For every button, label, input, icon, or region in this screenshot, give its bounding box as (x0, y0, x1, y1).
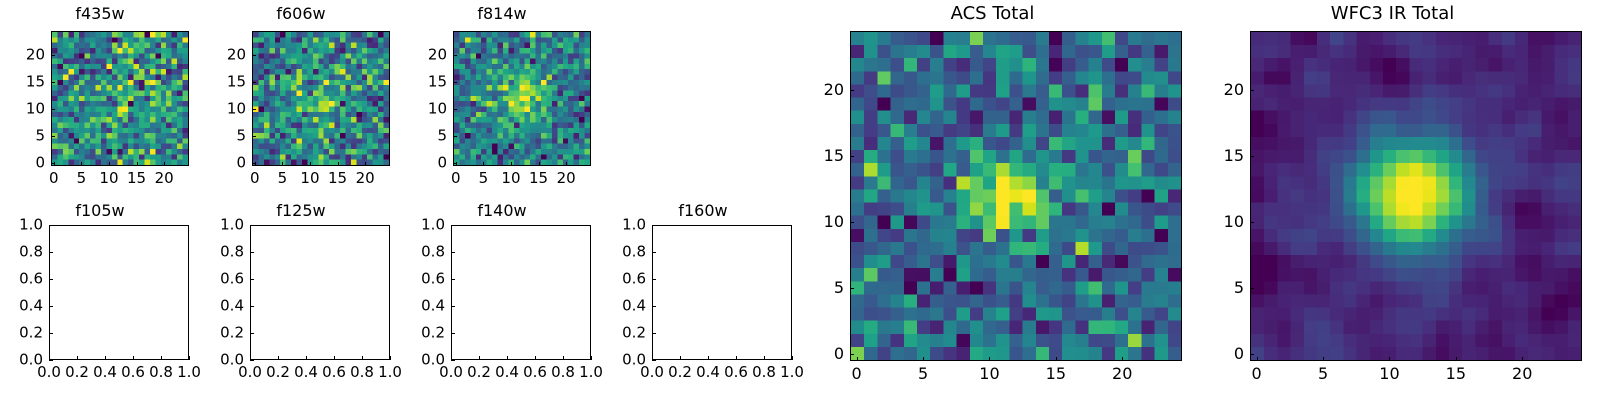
y-tick-mark (252, 82, 256, 83)
panel-f435w: f435w 0510152005101520 (0, 0, 200, 195)
x-tick-mark (338, 162, 339, 166)
y-tick-label: 1.0 (201, 218, 244, 233)
heatmap-canvas-f606w (253, 32, 389, 165)
y-tick-mark (850, 222, 854, 223)
y-tick-label: 0.4 (201, 299, 244, 314)
y-tick-mark (250, 252, 254, 253)
y-tick-mark (850, 156, 854, 157)
y-tick-label: 15 (201, 75, 246, 90)
x-tick-mark (1323, 357, 1324, 361)
plot-area-f140w[interactable] (451, 225, 591, 360)
x-tick-mark (736, 356, 737, 360)
x-tick-mark (857, 357, 858, 361)
x-tick-mark (365, 162, 366, 166)
y-tick-label: 5 (800, 280, 844, 296)
y-tick-mark (453, 82, 457, 83)
x-tick-mark (1257, 357, 1258, 361)
panel-f160w: f160w 0.00.20.40.60.81.00.00.20.40.60.81… (603, 195, 803, 400)
x-tick-mark (1122, 357, 1123, 361)
y-tick-mark (451, 279, 455, 280)
x-tick-label: 20 (356, 171, 375, 186)
y-tick-mark (451, 333, 455, 334)
y-tick-mark (1250, 288, 1254, 289)
y-tick-mark (453, 109, 457, 110)
y-tick-mark (652, 360, 656, 361)
panel-title-acs-total: ACS Total (800, 5, 1185, 23)
x-tick-mark (591, 356, 592, 360)
x-tick-label: 0 (250, 171, 260, 186)
x-tick-mark (306, 356, 307, 360)
panel-f606w: f606w 0510152005101520 (201, 0, 401, 195)
y-tick-label: 0 (201, 156, 246, 171)
x-tick-mark (507, 356, 508, 360)
x-tick-label: 15 (1446, 366, 1466, 382)
x-tick-label: 0.8 (350, 365, 374, 380)
x-tick-mark (483, 162, 484, 166)
x-tick-mark (511, 162, 512, 166)
y-tick-mark (49, 360, 53, 361)
y-tick-mark (451, 252, 455, 253)
y-tick-mark (850, 288, 854, 289)
x-tick-label: 0.6 (322, 365, 346, 380)
x-tick-label: 0 (852, 366, 862, 382)
y-tick-label: 1.0 (402, 218, 445, 233)
heatmap-wfc3-ir-total[interactable] (1250, 31, 1582, 361)
y-tick-mark (252, 55, 256, 56)
x-tick-label: 20 (1512, 366, 1532, 382)
y-tick-label: 20 (201, 48, 246, 63)
y-tick-mark (252, 109, 256, 110)
y-tick-mark (49, 333, 53, 334)
y-tick-label: 20 (800, 82, 844, 98)
y-tick-label: 0 (402, 156, 447, 171)
y-tick-label: 0.0 (402, 353, 445, 368)
x-tick-mark (1456, 357, 1457, 361)
panel-f125w: f125w 0.00.20.40.60.81.00.00.20.40.60.81… (201, 195, 401, 400)
y-tick-mark (250, 360, 254, 361)
y-tick-label: 0.0 (603, 353, 646, 368)
y-tick-mark (250, 333, 254, 334)
y-tick-mark (252, 136, 256, 137)
x-tick-mark (278, 356, 279, 360)
y-tick-label: 0.8 (201, 245, 244, 260)
x-tick-mark (390, 356, 391, 360)
x-tick-mark (189, 356, 190, 360)
panel-title-f435w: f435w (0, 6, 200, 22)
panel-wfc3-ir-total: WFC3 IR Total 0510152005101520 (1200, 0, 1600, 400)
y-tick-mark (1250, 222, 1254, 223)
y-tick-label: 10 (201, 102, 246, 117)
x-tick-label: 0.4 (93, 365, 117, 380)
y-tick-mark (49, 279, 53, 280)
y-tick-mark (652, 279, 656, 280)
y-tick-label: 5 (402, 129, 447, 144)
x-tick-label: 15 (328, 171, 347, 186)
x-tick-mark (539, 162, 540, 166)
y-tick-mark (850, 354, 854, 355)
y-tick-mark (51, 136, 55, 137)
heatmap-acs-total[interactable] (850, 31, 1182, 361)
y-tick-mark (51, 55, 55, 56)
x-tick-label: 5 (278, 171, 288, 186)
x-tick-mark (1056, 357, 1057, 361)
x-tick-label: 10 (99, 171, 118, 186)
x-tick-label: 0.4 (495, 365, 519, 380)
y-tick-label: 20 (402, 48, 447, 63)
y-tick-label: 0.6 (201, 272, 244, 287)
y-tick-label: 20 (1200, 82, 1244, 98)
x-tick-label: 0 (451, 171, 461, 186)
y-tick-mark (652, 333, 656, 334)
x-tick-mark (989, 357, 990, 361)
y-tick-label: 0.2 (603, 326, 646, 341)
x-tick-label: 0.6 (121, 365, 145, 380)
y-tick-label: 15 (402, 75, 447, 90)
y-tick-label: 10 (0, 102, 45, 117)
y-tick-label: 0 (800, 346, 844, 362)
x-tick-mark (764, 356, 765, 360)
heatmap-f606w[interactable] (252, 31, 390, 166)
y-tick-label: 0.2 (402, 326, 445, 341)
x-tick-mark (105, 356, 106, 360)
x-tick-label: 5 (479, 171, 489, 186)
y-tick-label: 0.8 (603, 245, 646, 260)
y-tick-label: 15 (0, 75, 45, 90)
x-tick-mark (161, 356, 162, 360)
y-tick-label: 0 (1200, 346, 1244, 362)
x-tick-label: 0.2 (266, 365, 290, 380)
heatmap-canvas-acs-total (851, 32, 1181, 360)
y-tick-mark (51, 109, 55, 110)
x-tick-label: 0.2 (668, 365, 692, 380)
y-tick-label: 0.4 (603, 299, 646, 314)
x-tick-mark (77, 356, 78, 360)
x-tick-label: 0.2 (65, 365, 89, 380)
y-tick-mark (49, 252, 53, 253)
y-tick-label: 5 (201, 129, 246, 144)
x-tick-label: 0 (1252, 366, 1262, 382)
y-tick-label: 0.8 (0, 245, 43, 260)
x-tick-mark (1522, 357, 1523, 361)
x-tick-mark (479, 356, 480, 360)
x-tick-label: 15 (127, 171, 146, 186)
y-tick-label: 0.2 (201, 326, 244, 341)
x-tick-label: 0.4 (696, 365, 720, 380)
x-tick-label: 10 (979, 366, 999, 382)
y-tick-label: 0.6 (603, 272, 646, 287)
y-tick-mark (652, 252, 656, 253)
x-tick-label: 5 (77, 171, 87, 186)
x-tick-mark (109, 162, 110, 166)
x-tick-label: 15 (1046, 366, 1066, 382)
y-tick-label: 0.6 (402, 272, 445, 287)
y-tick-label: 0.8 (402, 245, 445, 260)
y-tick-mark (1250, 354, 1254, 355)
heatmap-canvas-wfc3-ir-total (1251, 32, 1581, 360)
x-tick-label: 10 (300, 171, 319, 186)
y-tick-label: 15 (1200, 148, 1244, 164)
y-tick-label: 5 (1200, 280, 1244, 296)
plot-area-f125w[interactable] (250, 225, 390, 360)
x-tick-label: 0.2 (467, 365, 491, 380)
y-tick-mark (451, 306, 455, 307)
y-tick-mark (453, 55, 457, 56)
x-tick-label: 1.0 (378, 365, 402, 380)
x-tick-mark (137, 162, 138, 166)
figure-canvas: f435w 0510152005101520 f606w 05101520051… (0, 0, 1600, 400)
y-tick-mark (652, 225, 656, 226)
x-tick-mark (563, 356, 564, 360)
panel-title-f606w: f606w (201, 6, 401, 22)
y-tick-label: 0.2 (0, 326, 43, 341)
y-tick-mark (250, 306, 254, 307)
heatmap-canvas-f814w (454, 32, 590, 165)
y-tick-mark (250, 279, 254, 280)
x-tick-label: 1.0 (177, 365, 201, 380)
y-tick-mark (453, 163, 457, 164)
x-tick-label: 0.6 (724, 365, 748, 380)
x-tick-label: 5 (918, 366, 928, 382)
x-tick-label: 20 (557, 171, 576, 186)
y-tick-label: 0.6 (0, 272, 43, 287)
y-tick-label: 0.0 (201, 353, 244, 368)
panel-f814w: f814w 0510152005101520 (402, 0, 602, 195)
x-tick-mark (1389, 357, 1390, 361)
heatmap-canvas-f435w (52, 32, 188, 165)
y-tick-label: 0.4 (0, 299, 43, 314)
x-tick-mark (535, 356, 536, 360)
y-tick-label: 5 (0, 129, 45, 144)
y-tick-mark (451, 360, 455, 361)
x-tick-mark (566, 162, 567, 166)
y-tick-label: 0 (0, 156, 45, 171)
x-tick-label: 10 (1379, 366, 1399, 382)
y-tick-label: 10 (1200, 214, 1244, 230)
x-tick-label: 0.4 (294, 365, 318, 380)
x-tick-mark (680, 356, 681, 360)
y-tick-mark (652, 306, 656, 307)
heatmap-f814w[interactable] (453, 31, 591, 166)
y-tick-mark (51, 82, 55, 83)
x-tick-label: 0.8 (149, 365, 173, 380)
panel-title-f814w: f814w (402, 6, 602, 22)
panel-acs-total: ACS Total 0510152005101520 (800, 0, 1200, 400)
y-tick-label: 0.4 (402, 299, 445, 314)
x-tick-label: 5 (1318, 366, 1328, 382)
heatmap-f435w[interactable] (51, 31, 189, 166)
x-tick-label: 15 (529, 171, 548, 186)
y-tick-mark (49, 306, 53, 307)
x-tick-mark (164, 162, 165, 166)
panel-f105w: f105w 0.00.20.40.60.81.00.00.20.40.60.81… (0, 195, 200, 400)
y-tick-mark (252, 163, 256, 164)
plot-area-f160w[interactable] (652, 225, 792, 360)
x-tick-mark (923, 357, 924, 361)
x-tick-label: 20 (1112, 366, 1132, 382)
x-tick-label: 0.8 (752, 365, 776, 380)
x-tick-label: 0.8 (551, 365, 575, 380)
x-tick-mark (282, 162, 283, 166)
x-tick-label: 10 (501, 171, 520, 186)
x-tick-mark (133, 356, 134, 360)
y-tick-mark (451, 225, 455, 226)
x-tick-mark (334, 356, 335, 360)
panel-f140w: f140w 0.00.20.40.60.81.00.00.20.40.60.81… (402, 195, 602, 400)
panel-title-wfc3-ir-total: WFC3 IR Total (1200, 5, 1585, 23)
y-tick-mark (453, 136, 457, 137)
y-tick-label: 20 (0, 48, 45, 63)
x-tick-label: 0.6 (523, 365, 547, 380)
x-tick-label: 20 (155, 171, 174, 186)
y-tick-mark (1250, 156, 1254, 157)
y-tick-mark (49, 225, 53, 226)
y-tick-label: 10 (402, 102, 447, 117)
x-tick-label: 0 (49, 171, 59, 186)
x-tick-mark (708, 356, 709, 360)
y-tick-label: 10 (800, 214, 844, 230)
x-tick-mark (310, 162, 311, 166)
plot-area-f105w[interactable] (49, 225, 189, 360)
y-tick-mark (1250, 90, 1254, 91)
y-tick-mark (850, 90, 854, 91)
y-tick-mark (250, 225, 254, 226)
x-tick-mark (362, 356, 363, 360)
y-tick-label: 1.0 (603, 218, 646, 233)
y-tick-mark (51, 163, 55, 164)
y-tick-label: 15 (800, 148, 844, 164)
x-tick-mark (792, 356, 793, 360)
x-tick-label: 1.0 (579, 365, 603, 380)
y-tick-label: 1.0 (0, 218, 43, 233)
y-tick-label: 0.0 (0, 353, 43, 368)
x-tick-mark (81, 162, 82, 166)
